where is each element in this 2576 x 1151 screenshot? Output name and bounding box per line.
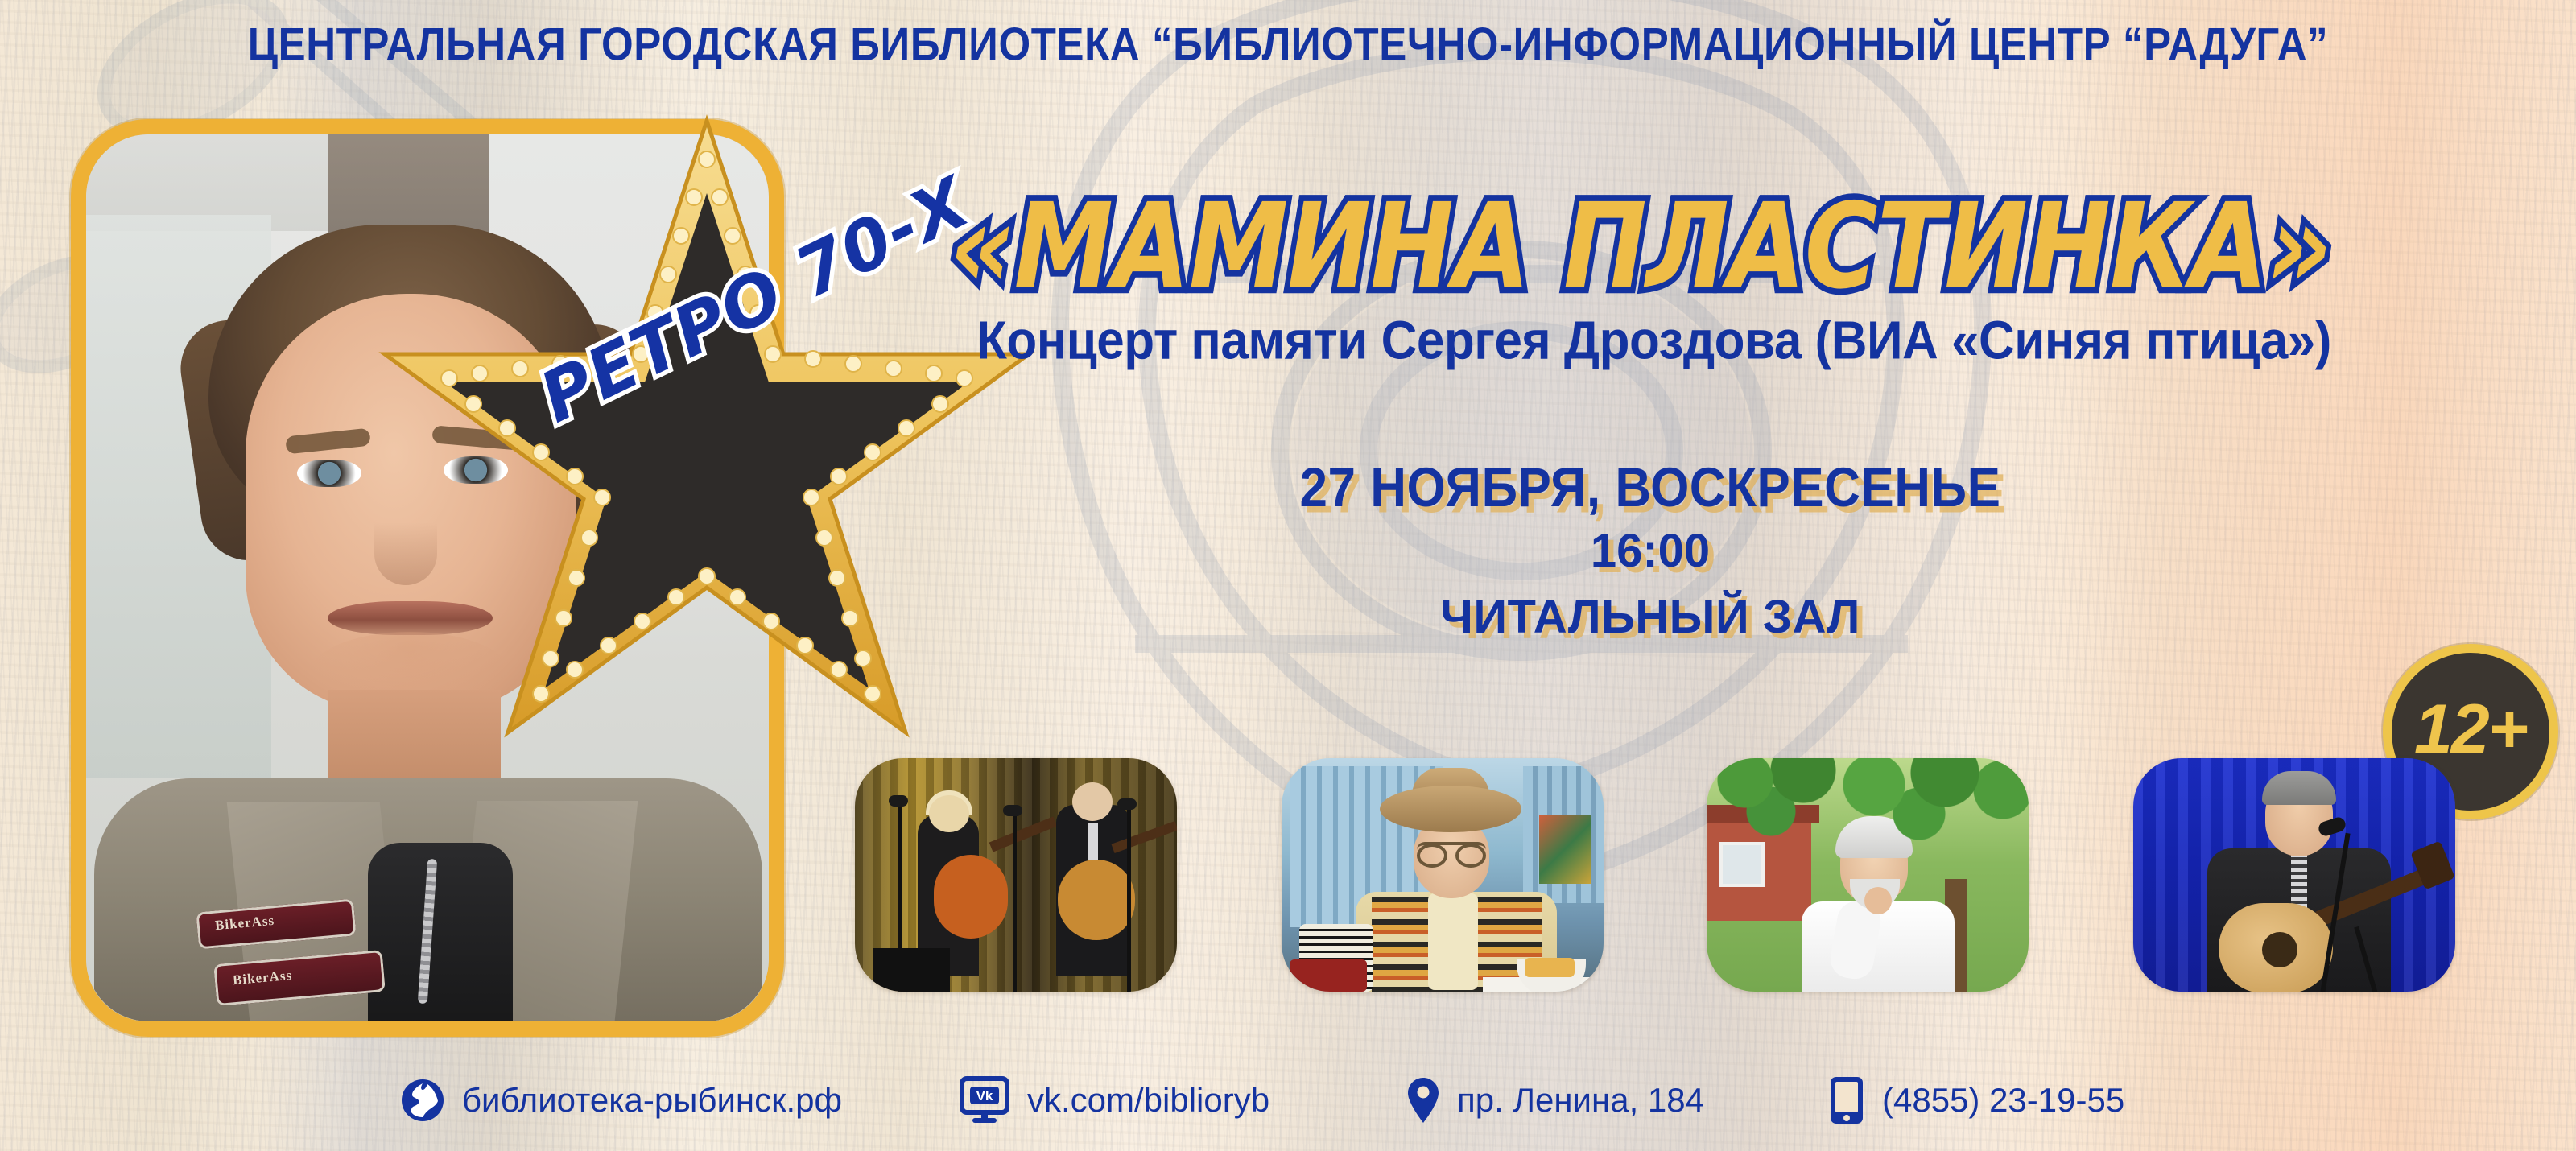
event-time: 16:00 bbox=[1127, 522, 2173, 581]
organization-header: ЦЕНТРАЛЬНАЯ ГОРОДСКАЯ БИБЛИОТЕКА “БИБЛИО… bbox=[0, 18, 2576, 71]
event-poster: ЦЕНТРАЛЬНАЯ ГОРОДСКАЯ БИБЛИОТЕКА “БИБЛИО… bbox=[0, 0, 2576, 1151]
contact-address[interactable]: пр. Ленина, 184 bbox=[1407, 1077, 1704, 1124]
phone-icon bbox=[1829, 1075, 1864, 1125]
contact-address-label: пр. Ленина, 184 bbox=[1457, 1081, 1704, 1120]
page-title: «МАМИНА ПЛАСТИНКА» bbox=[950, 179, 2576, 316]
photo-thumbnail-4 bbox=[2133, 758, 2455, 992]
photo-thumbnail-1 bbox=[855, 758, 1177, 992]
contact-website-label: библиотека-рыбинск.рф bbox=[462, 1081, 842, 1120]
contact-vk[interactable]: Vk vk.com/biblioryb bbox=[960, 1075, 1269, 1125]
event-venue: ЧИТАЛЬНЫЙ ЗАЛ bbox=[1127, 589, 2173, 646]
photo-thumbnail-3 bbox=[1707, 758, 2029, 992]
footer-contacts: библиотека-рыбинск.рф Vk vk.com/bibliory… bbox=[0, 1071, 2576, 1137]
contact-website[interactable]: библиотека-рыбинск.рф bbox=[401, 1079, 842, 1122]
event-details: 27 НОЯБРЯ, ВОСКРЕСЕНЬЕ 16:00 ЧИТАЛЬНЫЙ З… bbox=[1127, 460, 2173, 646]
vk-icon: Vk bbox=[960, 1075, 1009, 1125]
retro-star-badge: РЕТРО 70-Х bbox=[441, 97, 972, 757]
age-rating-label: 12+ bbox=[2414, 690, 2527, 769]
globe-icon bbox=[401, 1079, 444, 1122]
page-subtitle: Концерт памяти Сергея Дроздова (ВИА «Син… bbox=[976, 310, 2576, 372]
contact-phone-label: (4855) 23-19-55 bbox=[1882, 1081, 2124, 1120]
location-pin-icon bbox=[1407, 1077, 1439, 1124]
contact-phone[interactable]: (4855) 23-19-55 bbox=[1829, 1075, 2124, 1125]
contact-vk-label: vk.com/biblioryb bbox=[1027, 1081, 1269, 1120]
photo-thumbnail-2 bbox=[1282, 758, 1604, 992]
event-date: 27 НОЯБРЯ, ВОСКРЕСЕНЬЕ bbox=[1127, 458, 2173, 519]
svg-text:Vk: Vk bbox=[976, 1088, 993, 1104]
